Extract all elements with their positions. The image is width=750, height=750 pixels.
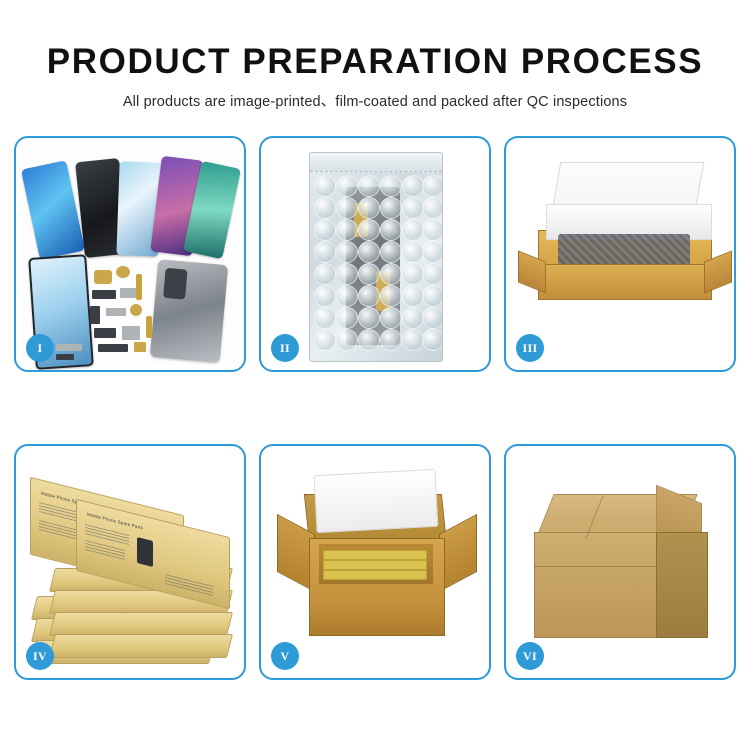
- page-title: PRODUCT PREPARATION PROCESS: [0, 42, 750, 82]
- component-chip-icon: [134, 342, 146, 352]
- component-chip-icon: [94, 270, 112, 284]
- process-step-2: II: [259, 136, 491, 372]
- step-badge-4: IV: [26, 642, 54, 670]
- bubble-wrap-bag-illustration: [261, 138, 489, 370]
- step-badge-3: III: [516, 334, 544, 362]
- phone-backplate-icon: [150, 259, 228, 363]
- component-chip-icon: [120, 288, 136, 298]
- packed-item: [323, 560, 427, 570]
- product-preparation-page: PRODUCT PREPARATION PROCESS All products…: [0, 0, 750, 750]
- box-front: [538, 264, 712, 300]
- page-subtitle: All products are image-printed、film-coat…: [0, 90, 750, 111]
- component-chip-icon: [56, 344, 82, 351]
- foam-insert: [558, 234, 690, 268]
- packed-item: [323, 570, 427, 580]
- bag-seal: [310, 153, 442, 172]
- component-chip-icon: [98, 344, 128, 352]
- step-badge-1: I: [26, 334, 54, 362]
- component-chip-icon: [56, 354, 74, 360]
- stacked-box: [49, 612, 233, 636]
- process-step-1: I: [14, 136, 246, 372]
- carton-front: [534, 532, 658, 638]
- stacked-printed-boxes-illustration: Mobile Phone Spare Parts Mobile Phone Sp…: [16, 446, 244, 678]
- step-badge-6: VI: [516, 642, 544, 670]
- process-step-5: V: [259, 444, 491, 680]
- carton-side: [656, 532, 708, 638]
- open-kraft-box-illustration: [506, 138, 734, 370]
- sealed-carton-illustration: [506, 446, 734, 678]
- packed-item: [323, 550, 427, 560]
- component-chip-icon: [106, 308, 126, 316]
- bubble-bag: [309, 152, 443, 362]
- process-step-4: Mobile Phone Spare Parts Mobile Phone Sp…: [14, 444, 246, 680]
- process-step-3: III: [504, 136, 736, 372]
- component-chip-icon: [130, 304, 142, 316]
- step-badge-2: II: [271, 334, 299, 362]
- process-step-grid: I: [14, 136, 736, 680]
- white-foam-lid: [314, 469, 439, 533]
- component-chip-icon: [90, 306, 100, 324]
- process-step-6: VI: [504, 444, 736, 680]
- component-chip-icon: [116, 266, 130, 278]
- flex-cable-icon: [136, 274, 142, 300]
- flex-cable-icon: [146, 316, 152, 338]
- component-chip-icon: [94, 328, 116, 338]
- component-chip-icon: [92, 290, 116, 299]
- component-chip-icon: [122, 326, 140, 340]
- phone-parts-flatlay-illustration: [16, 138, 244, 370]
- step-badge-5: V: [271, 642, 299, 670]
- carton-with-foam-illustration: [261, 446, 489, 678]
- stacked-box: [49, 634, 233, 658]
